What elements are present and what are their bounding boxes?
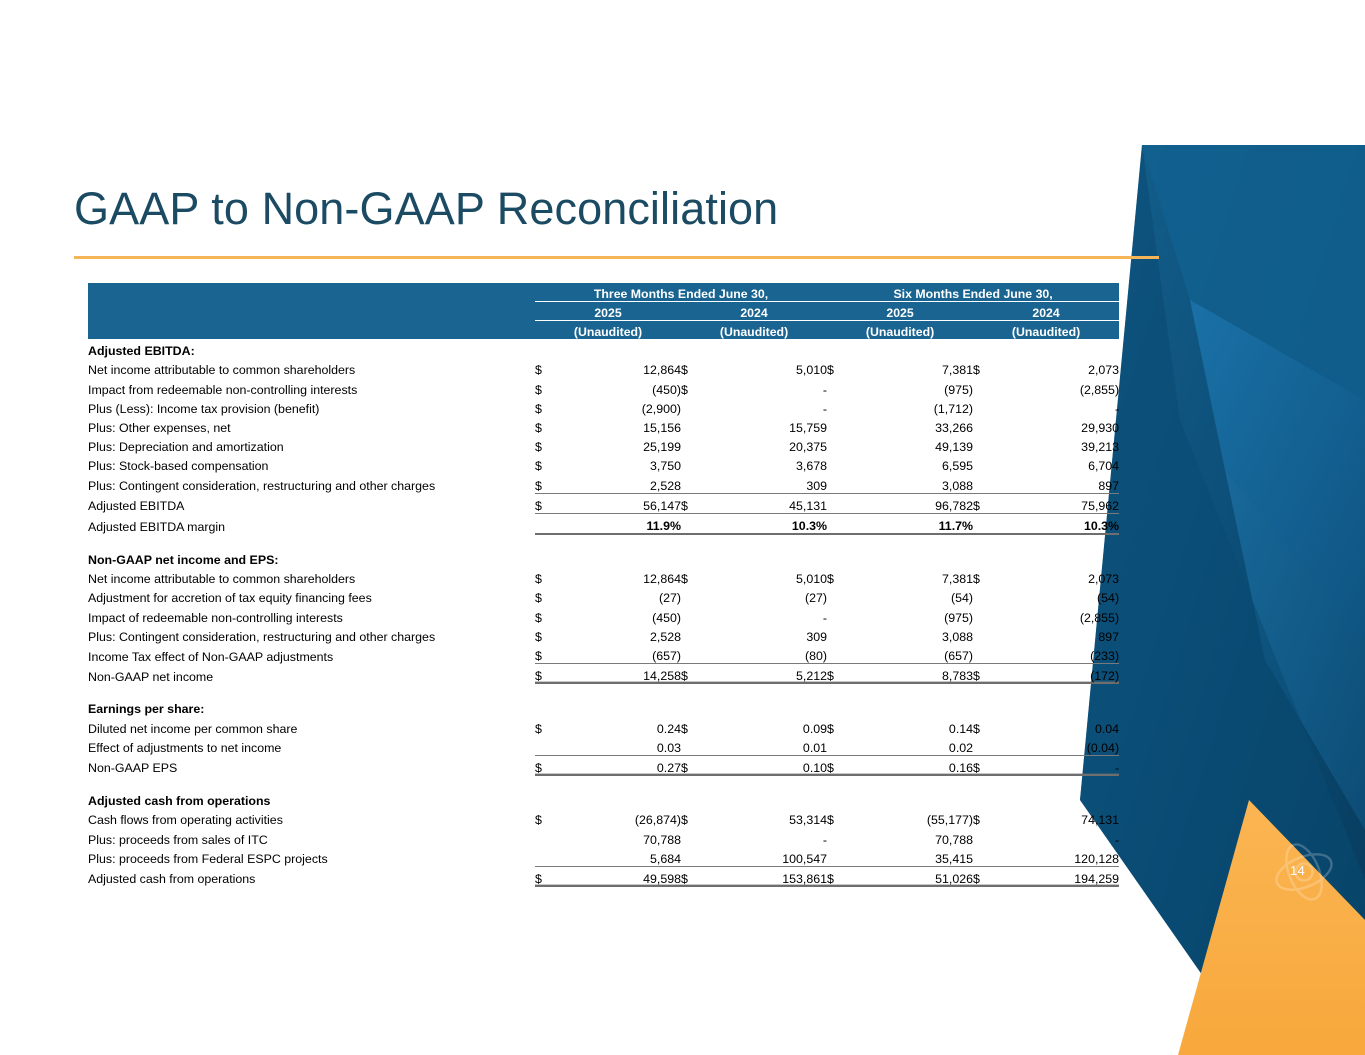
- row-label: Adjusted EBITDA: [88, 493, 535, 513]
- cell-currency-1: $: [535, 644, 561, 664]
- row-label: Income Tax effect of Non-GAAP adjustment…: [88, 644, 535, 664]
- cell-currency-3: [827, 493, 853, 513]
- row-label: Non-GAAP EPS: [88, 755, 535, 775]
- cell-value-1: 0.03: [561, 736, 681, 756]
- cell-value-3: 35,415: [853, 847, 973, 867]
- section-heading-blank: [853, 339, 973, 358]
- section-heading-blank: [827, 548, 853, 567]
- row-label: Net income attributable to common shareh…: [88, 567, 535, 586]
- cell-currency-1: $: [535, 567, 561, 586]
- cell-value-4: -: [999, 755, 1119, 775]
- cell-currency-3: [827, 397, 853, 416]
- section-heading-blank: [973, 548, 999, 567]
- table-row: Plus (Less): Income tax provision (benef…: [88, 397, 1119, 416]
- section-heading: Adjusted EBITDA:: [88, 339, 535, 358]
- section-heading-blank: [535, 697, 561, 716]
- cell-currency-4: [973, 847, 999, 867]
- cell-value-1: 49,598: [561, 866, 681, 886]
- cell-currency-3: [827, 473, 853, 493]
- cell-value-1: 2,528: [561, 473, 681, 493]
- audit-header-3: (Unaudited): [827, 321, 973, 340]
- table-row: Impact from redeemable non-controlling i…: [88, 377, 1119, 396]
- section-heading: Non-GAAP net income and EPS:: [88, 548, 535, 567]
- year-header-spacer: [88, 302, 535, 321]
- cell-value-1: 11.9%: [561, 513, 681, 534]
- cell-currency-1: $: [535, 493, 561, 513]
- section-heading-blank: [999, 789, 1119, 808]
- cell-value-1: (450): [561, 377, 681, 396]
- table-row: Effect of adjustments to net income0.030…: [88, 736, 1119, 756]
- section-heading-blank: [681, 789, 707, 808]
- table-total-row: Adjusted EBITDA$56,147$45,13196,782$75,9…: [88, 493, 1119, 513]
- cell-currency-4: $: [973, 358, 999, 377]
- cell-currency-2: [681, 625, 707, 644]
- reconciliation-table-wrapper: Three Months Ended June 30,Six Months En…: [88, 283, 1119, 887]
- cell-currency-2: $: [681, 567, 707, 586]
- cell-currency-2: $: [681, 358, 707, 377]
- group-header-spacer: [88, 283, 535, 302]
- cell-value-4: 897: [999, 473, 1119, 493]
- cell-currency-2: [681, 513, 707, 534]
- section-spacer: [88, 775, 1119, 789]
- spacer-cell: [88, 534, 1119, 548]
- cell-currency-2: $: [681, 377, 707, 396]
- cell-value-3: 0.02: [853, 736, 973, 756]
- row-label: Impact from redeemable non-controlling i…: [88, 377, 535, 396]
- section-heading-blank: [853, 697, 973, 716]
- cell-currency-1: $: [535, 716, 561, 735]
- section-heading-blank: [707, 789, 827, 808]
- cell-value-2: 15,759: [707, 416, 827, 435]
- cell-value-2: 45,131: [707, 493, 827, 513]
- table-row: Cash flows from operating activities$(26…: [88, 808, 1119, 827]
- cell-value-2: 5,010: [707, 567, 827, 586]
- cell-value-4: -: [999, 397, 1119, 416]
- cell-value-4: 897: [999, 625, 1119, 644]
- cell-value-3: 96,782: [853, 493, 973, 513]
- row-label: Adjusted EBITDA margin: [88, 513, 535, 534]
- cell-currency-4: [973, 377, 999, 396]
- cell-value-1: 25,199: [561, 435, 681, 454]
- cell-currency-1: [535, 827, 561, 846]
- section-heading-blank: [535, 339, 561, 358]
- cell-currency-4: [973, 454, 999, 473]
- table-row: Income Tax effect of Non-GAAP adjustment…: [88, 644, 1119, 664]
- cell-currency-1: [535, 736, 561, 756]
- cell-currency-3: [827, 416, 853, 435]
- section-heading-blank: [681, 697, 707, 716]
- section-heading-blank: [535, 789, 561, 808]
- cell-value-3: 33,266: [853, 416, 973, 435]
- row-label: Plus: Stock-based compensation: [88, 454, 535, 473]
- cell-currency-1: $: [535, 808, 561, 827]
- table-header-host: Three Months Ended June 30,Six Months En…: [88, 283, 1119, 339]
- cell-value-1: (450): [561, 605, 681, 624]
- cell-currency-4: $: [973, 716, 999, 735]
- cell-currency-2: [681, 435, 707, 454]
- cell-currency-3: $: [827, 866, 853, 886]
- section-spacer: [88, 684, 1119, 698]
- cell-currency-2: [681, 397, 707, 416]
- cell-currency-1: $: [535, 866, 561, 886]
- cell-value-3: 7,381: [853, 358, 973, 377]
- cell-currency-2: [681, 827, 707, 846]
- year-header-1: 2025: [535, 302, 681, 321]
- cell-value-4: (54): [999, 586, 1119, 605]
- cell-value-1: 3,750: [561, 454, 681, 473]
- section-heading-blank: [561, 697, 681, 716]
- group-header-1: Three Months Ended June 30,: [535, 283, 827, 302]
- page-title: GAAP to Non-GAAP Reconciliation: [74, 181, 778, 237]
- cell-currency-1: $: [535, 625, 561, 644]
- section-heading-blank: [827, 339, 853, 358]
- cell-currency-2: [681, 847, 707, 867]
- cell-value-3: (975): [853, 377, 973, 396]
- cell-value-1: 12,864: [561, 358, 681, 377]
- cell-value-4: 194,259: [999, 866, 1119, 886]
- cell-currency-1: [535, 513, 561, 534]
- spacer-cell: [88, 775, 1119, 789]
- table-row: Diluted net income per common share$0.24…: [88, 716, 1119, 735]
- cell-currency-3: [827, 736, 853, 756]
- cell-currency-2: [681, 473, 707, 493]
- cell-value-2: 5,010: [707, 358, 827, 377]
- cell-currency-2: [681, 586, 707, 605]
- cell-value-4: (2,855): [999, 377, 1119, 396]
- year-header-4: 2024: [973, 302, 1119, 321]
- audit-header-4: (Unaudited): [973, 321, 1119, 340]
- year-header-3: 2025: [827, 302, 973, 321]
- section-heading-blank: [707, 697, 827, 716]
- cell-currency-3: $: [827, 358, 853, 377]
- cell-value-4: -: [999, 827, 1119, 846]
- row-label: Adjusted cash from operations: [88, 866, 535, 886]
- cell-value-2: 0.09: [707, 716, 827, 735]
- cell-currency-2: $: [681, 716, 707, 735]
- cell-value-2: (80): [707, 644, 827, 664]
- cell-currency-1: $: [535, 664, 561, 684]
- section-heading-blank: [853, 548, 973, 567]
- section-heading-blank: [999, 697, 1119, 716]
- cell-value-3: 0.14: [853, 716, 973, 735]
- cell-value-3: (55,177): [853, 808, 973, 827]
- section-heading-blank: [973, 789, 999, 808]
- row-label: Diluted net income per common share: [88, 716, 535, 735]
- cell-value-3: (54): [853, 586, 973, 605]
- cell-value-1: 2,528: [561, 625, 681, 644]
- reconciliation-table: Three Months Ended June 30,Six Months En…: [88, 283, 1119, 887]
- cell-currency-4: [973, 513, 999, 534]
- cell-currency-1: $: [535, 473, 561, 493]
- row-label: Cash flows from operating activities: [88, 808, 535, 827]
- cell-value-4: (0.04): [999, 736, 1119, 756]
- group-header-2: Six Months Ended June 30,: [827, 283, 1119, 302]
- cell-currency-3: $: [827, 664, 853, 684]
- cell-currency-2: $: [681, 755, 707, 775]
- section-heading-row: Adjusted EBITDA:: [88, 339, 1119, 358]
- cell-value-3: 51,026: [853, 866, 973, 886]
- section-heading-blank: [707, 548, 827, 567]
- cell-value-2: 20,375: [707, 435, 827, 454]
- cell-value-1: (657): [561, 644, 681, 664]
- table-body-host: Adjusted EBITDA:Net income attributable …: [88, 339, 1119, 886]
- row-label: Non-GAAP net income: [88, 664, 535, 684]
- section-heading-blank: [827, 697, 853, 716]
- cell-value-3: 8,783: [853, 664, 973, 684]
- cell-currency-4: [973, 827, 999, 846]
- section-heading-blank: [973, 697, 999, 716]
- cell-value-2: -: [707, 377, 827, 396]
- navy-wedge: [1080, 145, 1365, 1055]
- year-header-2: 2024: [681, 302, 827, 321]
- cell-currency-4: [973, 625, 999, 644]
- cell-currency-3: [827, 586, 853, 605]
- cell-value-4: 2,073: [999, 567, 1119, 586]
- cell-currency-1: $: [535, 755, 561, 775]
- cell-value-2: (27): [707, 586, 827, 605]
- cell-value-2: 100,547: [707, 847, 827, 867]
- cell-currency-4: [973, 416, 999, 435]
- table-row: Impact of redeemable non-controlling int…: [88, 605, 1119, 624]
- table-year-header-row: 2025202420252024: [88, 302, 1119, 321]
- cell-value-2: 53,314: [707, 808, 827, 827]
- spacer-cell: [88, 684, 1119, 698]
- row-label: Plus (Less): Income tax provision (benef…: [88, 397, 535, 416]
- row-label: Effect of adjustments to net income: [88, 736, 535, 756]
- cell-currency-3: [827, 454, 853, 473]
- cell-value-4: 74,131: [999, 808, 1119, 827]
- cell-currency-3: $: [827, 567, 853, 586]
- table-row: Plus: proceeds from sales of ITC70,788-7…: [88, 827, 1119, 846]
- cell-value-3: 70,788: [853, 827, 973, 846]
- cell-currency-2: $: [681, 664, 707, 684]
- cell-value-4: 39,213: [999, 435, 1119, 454]
- cell-currency-4: $: [973, 866, 999, 886]
- cell-currency-3: [827, 513, 853, 534]
- cell-currency-2: $: [681, 866, 707, 886]
- cell-value-3: (1,712): [853, 397, 973, 416]
- cell-currency-4: $: [973, 808, 999, 827]
- cell-currency-2: [681, 416, 707, 435]
- cell-currency-1: $: [535, 605, 561, 624]
- table-row: Plus: Depreciation and amortization$25,1…: [88, 435, 1119, 454]
- table-row: Plus: Contingent consideration, restruct…: [88, 473, 1119, 493]
- section-heading-row: Non-GAAP net income and EPS:: [88, 548, 1119, 567]
- cell-currency-1: $: [535, 454, 561, 473]
- table-total-row: Non-GAAP net income$14,258$5,212$8,783$(…: [88, 664, 1119, 684]
- cell-currency-3: [827, 435, 853, 454]
- audit-header-1: (Unaudited): [535, 321, 681, 340]
- cell-value-4: 6,704: [999, 454, 1119, 473]
- table-total-row: Adjusted cash from operations$49,598$153…: [88, 866, 1119, 886]
- cell-value-1: 0.24: [561, 716, 681, 735]
- cell-currency-3: $: [827, 716, 853, 735]
- cell-currency-1: $: [535, 416, 561, 435]
- cell-currency-3: $: [827, 755, 853, 775]
- cell-value-4: 10.3%: [999, 513, 1119, 534]
- cell-currency-3: [827, 605, 853, 624]
- cell-value-1: 0.27: [561, 755, 681, 775]
- cell-value-2: -: [707, 827, 827, 846]
- cell-currency-4: [973, 586, 999, 605]
- cell-currency-3: [827, 377, 853, 396]
- cell-currency-4: [973, 736, 999, 756]
- section-spacer: [88, 534, 1119, 548]
- cell-currency-2: [681, 454, 707, 473]
- cell-currency-1: $: [535, 358, 561, 377]
- row-label: Impact of redeemable non-controlling int…: [88, 605, 535, 624]
- cell-currency-4: $: [973, 567, 999, 586]
- cell-currency-3: [827, 625, 853, 644]
- row-label: Plus: Other expenses, net: [88, 416, 535, 435]
- cell-value-1: (27): [561, 586, 681, 605]
- section-heading-blank: [561, 548, 681, 567]
- section-heading-blank: [681, 548, 707, 567]
- title-divider: [74, 256, 1159, 259]
- cell-value-2: 309: [707, 625, 827, 644]
- cell-currency-4: [973, 435, 999, 454]
- cell-value-3: 3,088: [853, 625, 973, 644]
- cell-value-4: (233): [999, 644, 1119, 664]
- table-row: Plus: Other expenses, net$15,15615,75933…: [88, 416, 1119, 435]
- cell-value-2: 3,678: [707, 454, 827, 473]
- cell-currency-2: [681, 644, 707, 664]
- cell-value-2: 5,212: [707, 664, 827, 684]
- section-heading-blank: [999, 339, 1119, 358]
- cell-currency-1: $: [535, 435, 561, 454]
- cell-currency-3: [827, 827, 853, 846]
- cell-value-3: (657): [853, 644, 973, 664]
- table-row: Adjustment for accretion of tax equity f…: [88, 586, 1119, 605]
- section-heading: Adjusted cash from operations: [88, 789, 535, 808]
- cell-value-2: 309: [707, 473, 827, 493]
- cell-value-2: -: [707, 397, 827, 416]
- table-row: Plus: proceeds from Federal ESPC project…: [88, 847, 1119, 867]
- section-heading: Earnings per share:: [88, 697, 535, 716]
- cell-value-4: (172): [999, 664, 1119, 684]
- cell-value-4: 0.04: [999, 716, 1119, 735]
- table-row: Adjusted EBITDA margin11.9%10.3%11.7%10.…: [88, 513, 1119, 534]
- cell-value-1: 15,156: [561, 416, 681, 435]
- cell-value-1: 14,258: [561, 664, 681, 684]
- cell-currency-4: $: [973, 755, 999, 775]
- section-heading-blank: [681, 339, 707, 358]
- cell-value-3: 3,088: [853, 473, 973, 493]
- cell-value-1: 5,684: [561, 847, 681, 867]
- table-row: Net income attributable to common shareh…: [88, 567, 1119, 586]
- row-label: Plus: proceeds from sales of ITC: [88, 827, 535, 846]
- section-heading-blank: [973, 339, 999, 358]
- cell-currency-4: $: [973, 664, 999, 684]
- table-row: Net income attributable to common shareh…: [88, 358, 1119, 377]
- section-heading-blank: [535, 548, 561, 567]
- cell-value-4: 2,073: [999, 358, 1119, 377]
- cell-currency-3: [827, 847, 853, 867]
- cell-currency-4: [973, 644, 999, 664]
- cell-currency-2: [681, 605, 707, 624]
- section-heading-blank: [561, 789, 681, 808]
- row-label: Net income attributable to common shareh…: [88, 358, 535, 377]
- cell-value-1: 70,788: [561, 827, 681, 846]
- cell-value-3: 49,139: [853, 435, 973, 454]
- section-heading-blank: [561, 339, 681, 358]
- table-audit-header-row: (Unaudited)(Unaudited)(Unaudited)(Unaudi…: [88, 321, 1119, 340]
- section-heading-blank: [999, 548, 1119, 567]
- cell-value-1: (2,900): [561, 397, 681, 416]
- orange-triangle: [1178, 800, 1365, 1055]
- table-row: Plus: Contingent consideration, restruct…: [88, 625, 1119, 644]
- row-label: Plus: Depreciation and amortization: [88, 435, 535, 454]
- cell-currency-2: $: [681, 808, 707, 827]
- row-label: Plus: Contingent consideration, restruct…: [88, 625, 535, 644]
- cell-value-2: 0.01: [707, 736, 827, 756]
- section-heading-blank: [707, 339, 827, 358]
- cell-value-4: 75,962: [999, 493, 1119, 513]
- section-heading-blank: [827, 789, 853, 808]
- cell-currency-4: [973, 605, 999, 624]
- cell-value-3: (975): [853, 605, 973, 624]
- table-row: Plus: Stock-based compensation$3,7503,67…: [88, 454, 1119, 473]
- row-label: Plus: proceeds from Federal ESPC project…: [88, 847, 535, 867]
- cell-currency-4: $: [973, 493, 999, 513]
- page-number: 14: [1290, 863, 1305, 878]
- cell-value-3: 0.16: [853, 755, 973, 775]
- cell-currency-4: [973, 473, 999, 493]
- cell-value-2: 10.3%: [707, 513, 827, 534]
- audit-header-spacer: [88, 321, 535, 340]
- section-heading-blank: [853, 789, 973, 808]
- cell-currency-4: [973, 397, 999, 416]
- cell-value-4: (2,855): [999, 605, 1119, 624]
- row-label: Plus: Contingent consideration, restruct…: [88, 473, 535, 493]
- cell-value-3: 6,595: [853, 454, 973, 473]
- cell-currency-1: [535, 847, 561, 867]
- audit-header-2: (Unaudited): [681, 321, 827, 340]
- cell-currency-1: $: [535, 397, 561, 416]
- section-heading-row: Adjusted cash from operations: [88, 789, 1119, 808]
- cell-value-4: 120,128: [999, 847, 1119, 867]
- cell-currency-1: $: [535, 377, 561, 396]
- cell-value-3: 7,381: [853, 567, 973, 586]
- cell-value-2: -: [707, 605, 827, 624]
- table-group-header-row: Three Months Ended June 30,Six Months En…: [88, 283, 1119, 302]
- cell-value-1: 12,864: [561, 567, 681, 586]
- cell-currency-2: $: [681, 493, 707, 513]
- cell-value-1: 56,147: [561, 493, 681, 513]
- cell-value-2: 153,861: [707, 866, 827, 886]
- cell-currency-1: $: [535, 586, 561, 605]
- cell-value-3: 11.7%: [853, 513, 973, 534]
- cell-value-4: 29,930: [999, 416, 1119, 435]
- table-total-row: Non-GAAP EPS$0.27$0.10$0.16$-: [88, 755, 1119, 775]
- row-label: Adjustment for accretion of tax equity f…: [88, 586, 535, 605]
- cell-currency-3: [827, 644, 853, 664]
- cell-value-2: 0.10: [707, 755, 827, 775]
- cell-currency-2: [681, 736, 707, 756]
- cell-value-1: (26,874): [561, 808, 681, 827]
- cell-currency-3: $: [827, 808, 853, 827]
- section-heading-row: Earnings per share:: [88, 697, 1119, 716]
